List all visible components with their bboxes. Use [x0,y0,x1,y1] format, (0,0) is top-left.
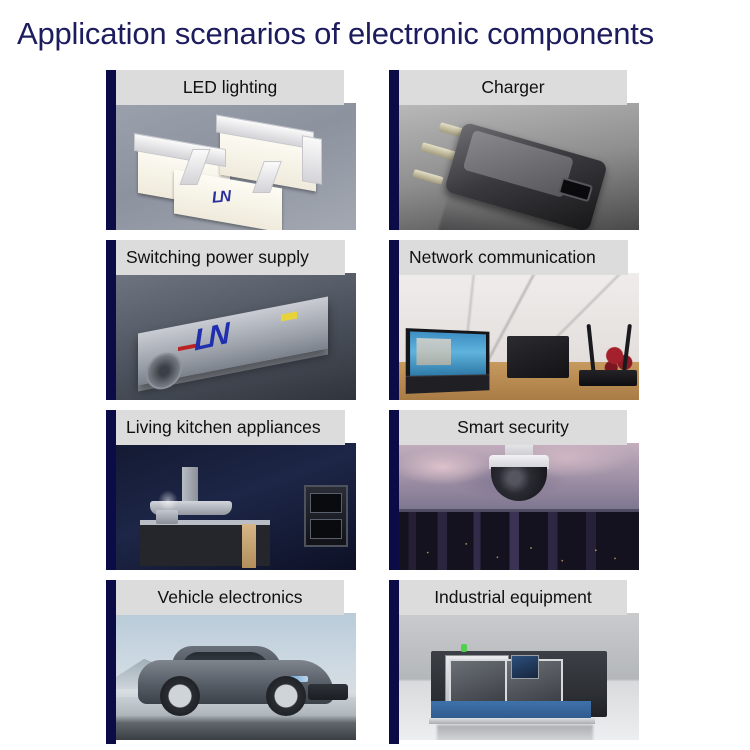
card-label-bar: Switching power supply [116,240,345,275]
brand-logo: LN [211,188,230,207]
card-label-text: Industrial equipment [434,589,592,607]
scenario-card-switching-power-supply[interactable]: Switching power supply LN [106,236,356,400]
card-image-led-lighting: LN [116,103,356,230]
accent-bar [389,410,399,570]
card-image-charger [399,103,639,230]
card-label-text: LED lighting [183,79,277,97]
card-label-bar: Industrial equipment [399,580,627,615]
scenario-card-living-kitchen-appliances[interactable]: Living kitchen appliances [106,406,356,570]
card-label-bar: Living kitchen appliances [116,410,345,445]
card-image-industrial-equipment [399,613,639,740]
card-label-text: Switching power supply [126,249,309,267]
scenario-card-vehicle-electronics[interactable]: Vehicle electronics [106,576,356,744]
card-image-switching-power-supply: LN [116,273,356,400]
card-label-bar: Vehicle electronics [116,580,344,615]
accent-bar [106,70,116,230]
card-label-text: Living kitchen appliances [126,419,321,437]
accent-bar [106,410,116,570]
accent-bar [389,580,399,744]
card-image-network-communication [399,273,639,400]
card-label-text: Vehicle electronics [158,589,303,607]
accent-bar [389,240,399,400]
scenario-card-smart-security[interactable]: Smart security [389,406,639,570]
accent-bar [106,580,116,744]
card-label-bar: LED lighting [116,70,344,105]
accent-bar [106,240,116,400]
card-label-text: Smart security [457,419,569,437]
scenario-grid: LED lighting LN Charger [0,66,750,750]
card-image-smart-security [399,443,639,570]
card-image-vehicle-electronics [116,613,356,740]
card-label-bar: Network communication [399,240,628,275]
card-label-bar: Smart security [399,410,627,445]
page-title: Application scenarios of electronic comp… [17,14,654,54]
card-label-text: Charger [481,79,544,97]
accent-bar [389,70,399,230]
card-image-living-kitchen-appliances [116,443,356,570]
scenario-card-network-communication[interactable]: Network communication [389,236,639,400]
scenario-card-industrial-equipment[interactable]: Industrial equipment [389,576,639,744]
card-label-text: Network communication [409,249,596,267]
card-label-bar: Charger [399,70,627,105]
scenario-card-led-lighting[interactable]: LED lighting LN [106,66,356,230]
scenario-card-charger[interactable]: Charger [389,66,639,230]
